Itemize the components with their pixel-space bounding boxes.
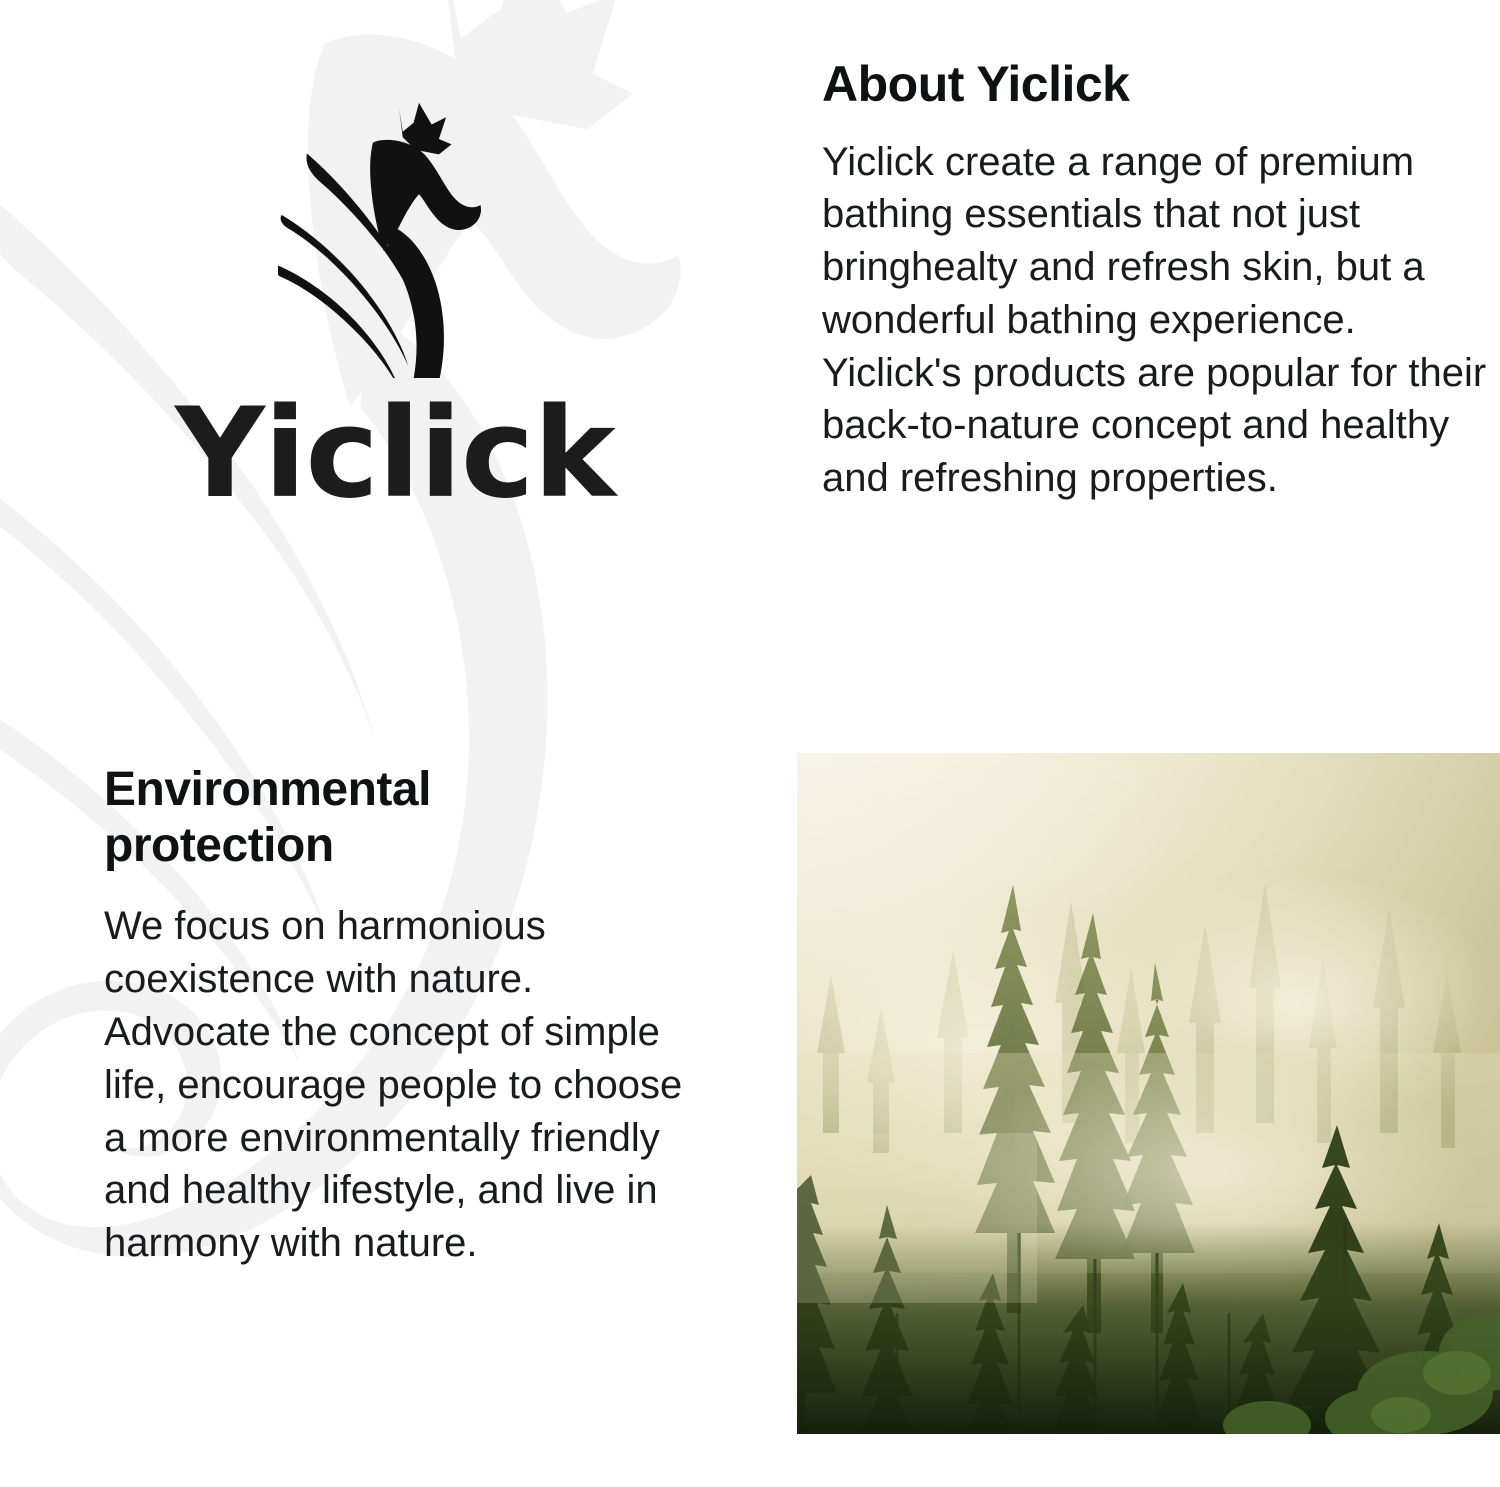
crowned-seahorse-logo-icon [278, 88, 513, 378]
about-body: Yiclick create a range of premium bathin… [822, 136, 1500, 506]
environmental-protection-section: Environmental protection We focus on har… [104, 762, 744, 1270]
environmental-protection-body: We focus on harmonious coexistence with … [104, 900, 704, 1270]
about-heading: About Yiclick [822, 56, 1500, 114]
about-section: About Yiclick Yiclick create a range of … [822, 56, 1500, 505]
brand-wordmark: Yiclick [175, 392, 615, 516]
brand-logo: Yiclick [0, 88, 790, 516]
left-column: Yiclick Environmental protection We focu… [0, 0, 790, 1487]
brand-page: Yiclick Environmental protection We focu… [0, 0, 1500, 1487]
forest-photo [797, 753, 1500, 1434]
environmental-protection-heading: Environmental protection [104, 762, 574, 874]
